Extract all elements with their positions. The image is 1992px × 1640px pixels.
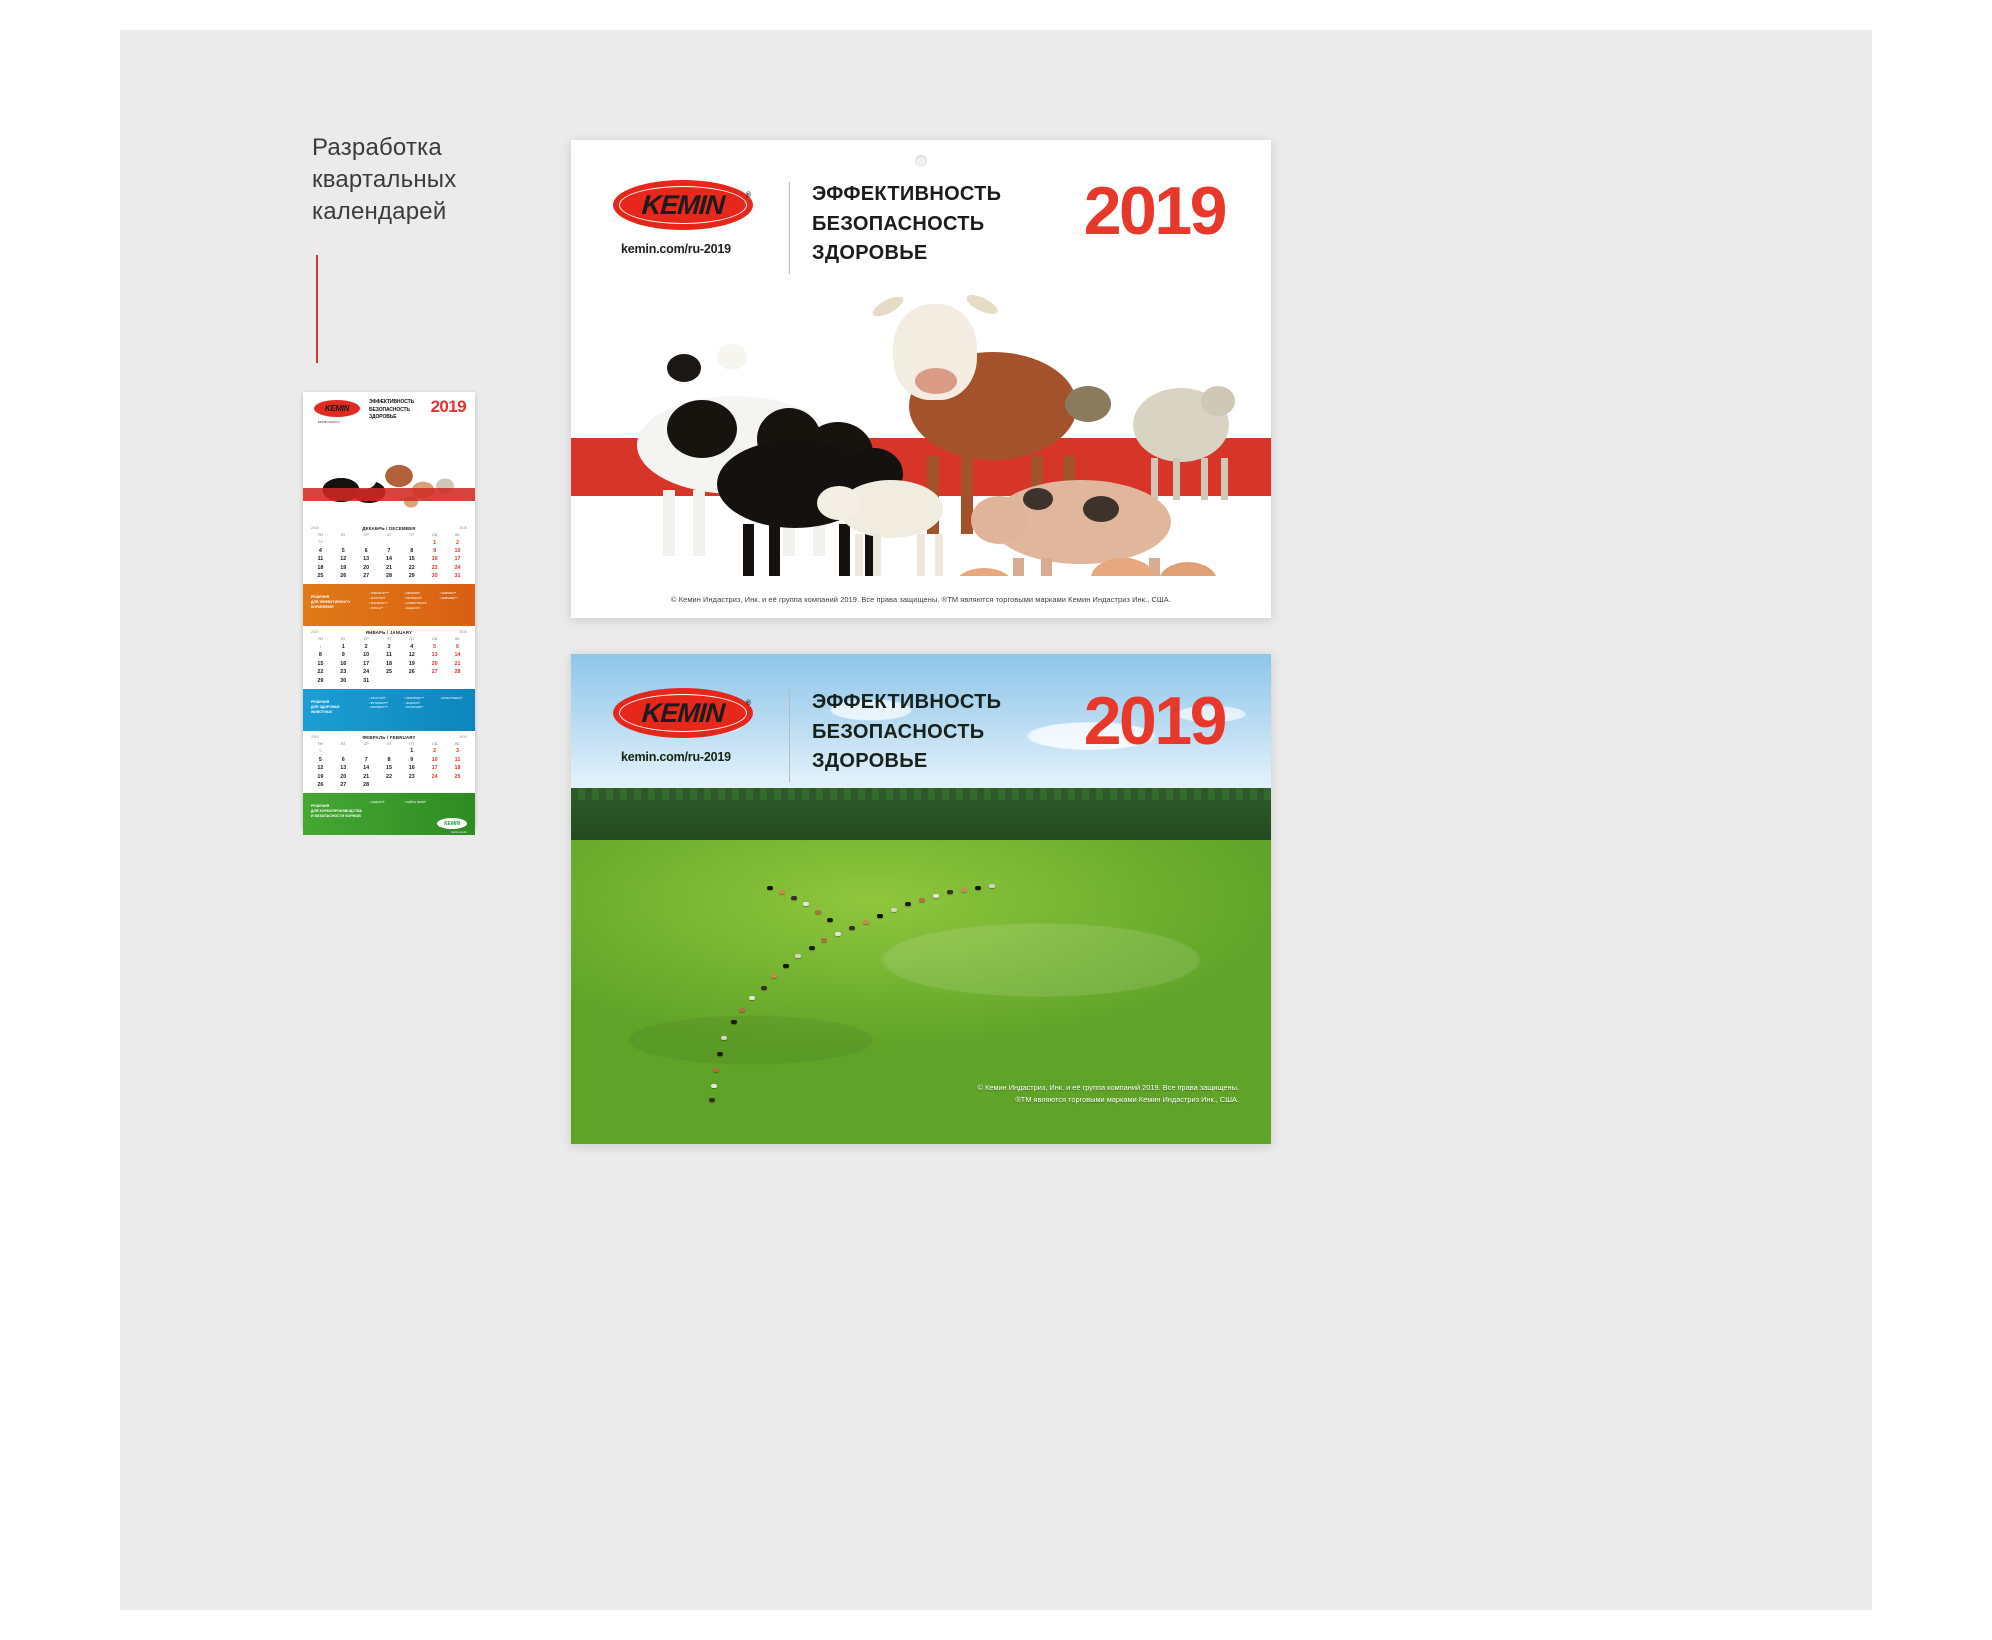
calendar-day-cell[interactable]: 13: [332, 764, 355, 772]
portfolio-slide: Разработка квартальных календарей KEMIN …: [0, 0, 1992, 1640]
quarter-block-december: 2018 2019 ДЕКАБРЬ / DECEMBER ПНВТСРЧТПТС…: [303, 522, 475, 626]
cover-year-animals: 2019: [1084, 172, 1225, 250]
q1-product-band: РЕШЕНИЯ ДЛЯ ЭФФЕКТИВНОГО КОРМЛЕНИЯ • ЛИЗ…: [303, 584, 475, 626]
slogan-line-1: ЭФФЕКТИВНОСТЬ: [812, 688, 1001, 718]
herd-animal: [989, 884, 995, 888]
quarter-block-february: 2019 2019 ФЕВРАЛЬ / FEBRUARY ПНВТСРЧТПТС…: [303, 731, 475, 835]
calendar-day-cell[interactable]: 14: [355, 764, 378, 772]
q1-calendar-grid: ПНВТСРЧТПТСБВС48124567891011121314151617…: [309, 533, 469, 580]
product-column: • ЛИЗОФОРТ™• КЛОСТАТ®• ФОРМИКС™• ЛИСОН™: [369, 591, 398, 610]
registered-mark-icon: ®: [746, 192, 751, 199]
calendar-day-cell[interactable]: 4: [309, 547, 332, 555]
calendar-day-cell[interactable]: 2: [446, 539, 469, 547]
q3-year-left: 2019: [311, 735, 319, 739]
herd-animal: [739, 1008, 745, 1012]
brand-url[interactable]: kemin.com/ru-2019: [621, 242, 765, 256]
calendar-week-row: 567891011: [309, 756, 469, 764]
herd-animal: [709, 1098, 715, 1102]
calendar-day-cell[interactable]: [378, 539, 401, 547]
q3-month-label: ФЕВРАЛЬ / FEBRUARY: [309, 735, 469, 740]
calendar-day-cell[interactable]: 9: [332, 651, 355, 659]
calendar-day-cell[interactable]: 6: [332, 756, 355, 764]
calendar-day-cell[interactable]: 25: [378, 668, 401, 676]
calendar-day-cell[interactable]: 11: [309, 555, 332, 563]
calendar-day-cell[interactable]: 28: [446, 668, 469, 676]
product-name: • ЭНДОКС®: [404, 606, 433, 611]
calendar-day-cell[interactable]: [355, 539, 378, 547]
calendar-day-cell[interactable]: 17: [446, 555, 469, 563]
q3-band-title: РЕШЕНИЯ ДЛЯ КОРМОПРОИЗВОДСТВА И БЕЗОПАСН…: [311, 804, 362, 819]
calendar-day-cell[interactable]: 6: [355, 547, 378, 555]
calendar-day-cell[interactable]: [400, 781, 423, 789]
calendar-day-cell[interactable]: 20: [332, 773, 355, 781]
brown-cow-muzzle: [915, 368, 957, 394]
calendar-day-cell[interactable]: [446, 781, 469, 789]
calendar-day-cell[interactable]: 1: [400, 747, 423, 755]
slogan-line-2: БЕЗОПАСНОСТЬ: [812, 718, 1001, 748]
calendar-day-cell[interactable]: 15: [309, 660, 332, 668]
herd-animal: [731, 1020, 737, 1024]
herd-animal: [835, 932, 841, 936]
calendar-week-row: 4812: [309, 539, 469, 547]
calendar-day-cell[interactable]: 2: [423, 747, 446, 755]
calendar-day-cell[interactable]: 31: [446, 572, 469, 580]
herd-animal: [771, 974, 777, 978]
calendar-week-row: 891011121314: [309, 651, 469, 659]
product-column: • КЕММИН™• КЕММИКС™: [440, 591, 469, 610]
cover-year-field: 2019: [1084, 682, 1225, 760]
brand-slogan: ЭФФЕКТИВНОСТЬ БЕЗОПАСНОСТЬ ЗДОРОВЬЕ: [812, 688, 1001, 777]
calendar-day-cell[interactable]: 29: [400, 572, 423, 580]
calendar-day-cell[interactable]: 16: [332, 660, 355, 668]
calendar-day-cell[interactable]: 23: [400, 773, 423, 781]
brown-cow-horn-left: [870, 293, 906, 320]
calendar-day-cell[interactable]: 26: [400, 668, 423, 676]
herd-animal: [919, 898, 925, 902]
quarterly-calendar-thumbnail[interactable]: KEMIN kemin.com/ru ЭФФЕКТИВНОСТЬ БЕЗОПАС…: [303, 392, 475, 827]
calendar-day-cell[interactable]: 26: [309, 781, 332, 789]
kemin-logo-icon: KEMIN ®: [613, 688, 753, 738]
calendar-day-cell[interactable]: [332, 539, 355, 547]
calendar-day-cell[interactable]: 19: [309, 773, 332, 781]
quarter-block-january: 2019 2019 ЯНВАРЬ / JANUARY ПНВТСРЧТПТСБВ…: [303, 626, 475, 730]
calendar-day-cell[interactable]: 8: [400, 547, 423, 555]
herd-animal: [815, 910, 821, 914]
calendar-day-cell[interactable]: 16: [400, 764, 423, 772]
calendar-week-row: 262728: [309, 781, 469, 789]
calendar-day-cell[interactable]: 48: [309, 539, 332, 547]
hanging-hole-icon: [915, 155, 927, 167]
q2-year-left: 2019: [311, 630, 319, 634]
footer-url: kemin.com/ru: [451, 831, 467, 834]
calendar-day-cell[interactable]: 18: [309, 564, 332, 572]
calendar-day-cell[interactable]: 12: [400, 651, 423, 659]
calendar-day-cell[interactable]: 11: [446, 756, 469, 764]
herd-animal: [779, 890, 785, 894]
calendar-day-cell[interactable]: 4: [400, 643, 423, 651]
herd-animal: [975, 886, 981, 890]
copyright-field-line-1: © Кемин Индастриз, Инк. и её группа комп…: [977, 1082, 1239, 1094]
calendar-day-cell[interactable]: 21: [378, 564, 401, 572]
product-column: • ЛИЗОФОРТ™• ЭНДОКС®• ОКСИГАРД™: [404, 696, 433, 710]
calendar-day-cell[interactable]: 1: [332, 643, 355, 651]
calendar-day-cell[interactable]: 24: [446, 564, 469, 572]
calendar-week-row: 1123456: [309, 643, 469, 651]
cover-header-animals: KEMIN ® kemin.com/ru-2019 ЭФФЕКТИВНОСТЬ …: [613, 180, 1001, 274]
calendar-day-cell[interactable]: 14: [446, 651, 469, 659]
calendar-day-cell[interactable]: 27: [332, 781, 355, 789]
q3-product-list: • ЭНДОКС®• МАЙКО КЕРБ®: [369, 800, 469, 805]
herd-animal: [749, 996, 755, 1000]
herd-animal: [877, 914, 883, 918]
page-title: Разработка квартальных календарей: [312, 132, 542, 228]
calendar-day-cell[interactable]: [332, 747, 355, 755]
kemin-logo-icon: KEMIN: [314, 400, 360, 417]
q2-month-label: ЯНВАРЬ / JANUARY: [309, 630, 469, 635]
calendar-day-cell[interactable]: 24: [355, 668, 378, 676]
q2-calendar-grid: ПНВТСРЧТПТСБВС11234568910111213141516171…: [309, 637, 469, 684]
calendar-day-cell[interactable]: 15: [400, 555, 423, 563]
herd-animal: [791, 896, 797, 900]
footer-kemin-logo-icon: KEMIN: [437, 818, 467, 829]
herd-animal: [783, 964, 789, 968]
calendar-day-cell[interactable]: 11: [378, 651, 401, 659]
calendar-week-row: 18192021222324: [309, 564, 469, 572]
calendar-day-cell[interactable]: 20: [423, 660, 446, 668]
herd-animal: [821, 938, 827, 942]
calendar-day-cell[interactable]: 16: [423, 555, 446, 563]
animal-group-photo: [571, 290, 1271, 576]
calendar-week-row: 45678910: [309, 547, 469, 555]
product-name: • ОКСИГАРД™: [404, 705, 433, 710]
brown-cow-horn-right: [964, 291, 1000, 318]
calendar-day-cell[interactable]: [378, 747, 401, 755]
sheep-head: [1201, 386, 1235, 416]
pig-head: [971, 496, 1027, 544]
calendar-day-cell[interactable]: 28: [355, 781, 378, 789]
registered-mark-icon: ®: [746, 700, 751, 707]
calendar-day-cell[interactable]: 12: [309, 764, 332, 772]
q2-year-right: 2019: [459, 630, 467, 634]
page-title-line-1: Разработка: [312, 132, 542, 164]
brand-url[interactable]: kemin.com/ru-2019: [621, 750, 765, 764]
herd-animal: [891, 908, 897, 912]
forest-treeline: [571, 794, 1271, 842]
thumbnail-logo-text: KEMIN: [325, 404, 349, 413]
calendar-day-cell[interactable]: 7: [355, 756, 378, 764]
calendar-day-cell[interactable]: 8: [378, 756, 401, 764]
title-accent-rule: [316, 255, 318, 363]
calendar-day-cell[interactable]: 20: [355, 564, 378, 572]
turkey-icon: [1065, 386, 1111, 422]
q3-year-right: 2019: [459, 735, 467, 739]
slogan-line-3: ЗДОРОВЬЕ: [812, 239, 1001, 269]
calendar-day-cell[interactable]: 3: [378, 643, 401, 651]
calendar-day-cell[interactable]: [423, 781, 446, 789]
calendar-day-cell[interactable]: [400, 539, 423, 547]
calendar-day-cell[interactable]: 12: [332, 555, 355, 563]
calendar-day-cell[interactable]: 10: [355, 651, 378, 659]
herd-animal: [767, 886, 773, 890]
calendar-day-cell[interactable]: [446, 677, 469, 685]
page-title-line-3: календарей: [312, 196, 542, 228]
calendar-day-cell[interactable]: 23: [423, 564, 446, 572]
herd-animal: [849, 926, 855, 930]
calendar-day-cell[interactable]: [378, 677, 401, 685]
calendar-day-cell[interactable]: 18: [378, 660, 401, 668]
q1-year-left: 2018: [311, 526, 319, 530]
calendar-day-cell[interactable]: 25: [446, 773, 469, 781]
product-name: • ЛИСОН™: [369, 606, 398, 611]
thumbnail-slogan-line-1: ЭФФЕКТИВНОСТЬ: [369, 399, 414, 407]
goat-head: [817, 486, 861, 520]
q1-band-title-line-3: КОРМЛЕНИЯ: [311, 605, 350, 610]
thumbnail-slogan: ЭФФЕКТИВНОСТЬ БЕЗОПАСНОСТЬ ЗДОРОВЬЕ: [369, 399, 414, 422]
calendar-day-cell[interactable]: 30: [332, 677, 355, 685]
calendar-day-cell[interactable]: 10: [446, 547, 469, 555]
piglet-3: [1159, 562, 1217, 576]
calendar-day-cell[interactable]: 6: [446, 643, 469, 651]
product-column: • КЛОСТАТ®• БУТИПЕРЛ™• ФОРМИКС™: [369, 696, 398, 710]
calendar-day-cell[interactable]: 30: [423, 572, 446, 580]
herd-animal: [961, 888, 967, 892]
hen-icon: [717, 344, 747, 370]
calendar-week-row: 12131415161718: [309, 764, 469, 772]
cover-header-field: KEMIN ® kemin.com/ru-2019 ЭФФЕКТИВНОСТЬ …: [613, 688, 1001, 782]
calendar-day-cell[interactable]: 28: [378, 572, 401, 580]
calendar-day-cell[interactable]: 13: [423, 651, 446, 659]
calendar-day-cell[interactable]: 19: [400, 660, 423, 668]
calendar-day-cell[interactable]: 3: [446, 747, 469, 755]
calendar-day-cell[interactable]: 31: [355, 677, 378, 685]
calendar-day-cell[interactable]: 7: [378, 547, 401, 555]
herd-animal: [711, 1084, 717, 1088]
rooster-icon: [667, 354, 701, 382]
slogan-line-1: ЭФФЕКТИВНОСТЬ: [812, 180, 1001, 210]
herd-animal: [905, 902, 911, 906]
product-name: • КЕММИКС™: [440, 596, 469, 601]
calendar-day-cell[interactable]: 13: [355, 555, 378, 563]
calendar-day-cell[interactable]: 17: [423, 764, 446, 772]
calendar-day-cell[interactable]: 9: [400, 756, 423, 764]
calendar-day-cell[interactable]: 18: [446, 764, 469, 772]
page-title-line-2: квартальных: [312, 164, 542, 196]
q3-product-band: РЕШЕНИЯ ДЛЯ КОРМОПРОИЗВОДСТВА И БЕЗОПАСН…: [303, 793, 475, 835]
q1-year-right: 2019: [459, 526, 467, 530]
q1-month-label: ДЕКАБРЬ / DECEMBER: [309, 526, 469, 531]
kemin-logo-icon: KEMIN ®: [613, 180, 753, 230]
thumbnail-red-band: [303, 488, 475, 501]
copyright-field: © Кемин Индастриз, Инк. и её группа комп…: [977, 1082, 1239, 1106]
calendar-day-cell[interactable]: 5: [332, 547, 355, 555]
calendar-day-cell[interactable]: 25: [309, 572, 332, 580]
q1-band-title: РЕШЕНИЯ ДЛЯ ЭФФЕКТИВНОГО КОРМЛЕНИЯ: [311, 595, 350, 610]
calendar-day-cell[interactable]: 8: [309, 651, 332, 659]
calendar-day-cell[interactable]: 27: [355, 572, 378, 580]
q3-calendar-grid: ПНВТСРЧТПТСБВС51235678910111213141516171…: [309, 742, 469, 789]
herd-animal: [863, 920, 869, 924]
herd-animal: [947, 890, 953, 894]
calendar-day-cell[interactable]: 5: [309, 747, 332, 755]
herd-animal: [795, 954, 801, 958]
logo-column: KEMIN ® kemin.com/ru-2019: [613, 180, 765, 256]
herd-animal: [721, 1036, 727, 1040]
product-name: • ЭНДОКС®: [369, 800, 398, 805]
herd-animal: [713, 1068, 719, 1072]
brand-slogan: ЭФФЕКТИВНОСТЬ БЕЗОПАСНОСТЬ ЗДОРОВЬЕ: [812, 180, 1001, 269]
calendar-day-cell[interactable]: 10: [423, 756, 446, 764]
calendar-day-cell[interactable]: 5: [423, 643, 446, 651]
calendar-day-cell[interactable]: [400, 677, 423, 685]
product-column: • МАЙКО КЕРБ®: [404, 800, 433, 805]
calendar-day-cell[interactable]: [355, 747, 378, 755]
calendar-day-cell[interactable]: 21: [355, 773, 378, 781]
q3-band-title-line-3: И БЕЗОПАСНОСТИ КОРМОВ: [311, 814, 362, 819]
calendar-week-row: 293031: [309, 677, 469, 685]
calendar-day-cell[interactable]: 5: [309, 756, 332, 764]
thumbnail-animal-photo: [303, 428, 475, 522]
product-name: • АЛЛЕРПЛЕКС®: [440, 696, 469, 701]
product-name: • ФОРМИКС™: [369, 705, 398, 710]
copyright-animals: © Кемин Индастриз, Инк. и её группа комп…: [571, 595, 1271, 604]
calendar-week-row: 22232425262728: [309, 668, 469, 676]
footer-logo-text: KEMIN: [444, 821, 460, 827]
calendar-cover-field[interactable]: KEMIN ® kemin.com/ru-2019 ЭФФЕКТИВНОСТЬ …: [571, 654, 1271, 1144]
calendar-day-cell[interactable]: 17: [355, 660, 378, 668]
calendar-day-cell[interactable]: 26: [332, 572, 355, 580]
holstein-cow-spot-1: [667, 400, 737, 458]
kemin-logo-text: KEMIN: [641, 698, 725, 729]
copyright-field-line-2: ®ТМ являются торговыми марками Кемин Инд…: [977, 1094, 1239, 1106]
slogan-line-3: ЗДОРОВЬЕ: [812, 747, 1001, 777]
calendar-day-cell[interactable]: [378, 781, 401, 789]
product-column: [440, 800, 469, 805]
header-divider: [789, 690, 790, 782]
calendar-week-row: 5123: [309, 747, 469, 755]
product-name: • МАЙКО КЕРБ®: [404, 800, 433, 805]
calendar-day-cell[interactable]: 27: [423, 668, 446, 676]
thumbnail-url: kemin.com/ru: [318, 420, 340, 424]
calendar-week-row: 15161718192021: [309, 660, 469, 668]
calendar-day-cell[interactable]: 29: [309, 677, 332, 685]
product-column: • АЛЛЕРПЛЕКС®: [440, 696, 469, 710]
herd-animal: [933, 894, 939, 898]
calendar-day-cell[interactable]: [423, 677, 446, 685]
herd-animal: [809, 946, 815, 950]
calendar-week-row: 11121314151617: [309, 555, 469, 563]
calendar-day-cell[interactable]: 22: [309, 668, 332, 676]
calendar-cover-animals[interactable]: KEMIN ® kemin.com/ru-2019 ЭФФЕКТИВНОСТЬ …: [571, 140, 1271, 618]
calendar-day-cell[interactable]: 1: [423, 539, 446, 547]
calendar-day-cell[interactable]: 14: [378, 555, 401, 563]
herd-animal: [761, 986, 767, 990]
calendar-day-cell[interactable]: 24: [423, 773, 446, 781]
thumbnail-year: 2019: [431, 397, 466, 417]
thumbnail-header: KEMIN kemin.com/ru ЭФФЕКТИВНОСТЬ БЕЗОПАС…: [303, 392, 475, 522]
calendar-day-cell[interactable]: 15: [378, 764, 401, 772]
calendar-day-cell[interactable]: 1: [309, 643, 332, 651]
calendar-day-cell[interactable]: 9: [423, 547, 446, 555]
thumbnail-slogan-line-3: ЗДОРОВЬЕ: [369, 414, 414, 422]
thumbnail-slogan-line-2: БЕЗОПАСНОСТЬ: [369, 407, 414, 415]
calendar-day-cell[interactable]: 2: [355, 643, 378, 651]
herd-animal: [827, 918, 833, 922]
calendar-week-row: 25262728293031: [309, 572, 469, 580]
product-column: • ЭНДОКС®: [369, 800, 398, 805]
q1-product-list: • ЛИЗОФОРТ™• КЛОСТАТ®• ФОРМИКС™• ЛИСОН™•…: [369, 591, 469, 610]
header-divider: [789, 182, 790, 274]
calendar-day-cell[interactable]: 19: [332, 564, 355, 572]
calendar-day-cell[interactable]: 22: [400, 564, 423, 572]
q2-product-band: РЕШЕНИЯ ДЛЯ ЗДОРОВЬЯ ЖИВОТНЫХ • КЛОСТАТ®…: [303, 689, 475, 731]
product-column: • КЕМЗИМ®• МОЛЛЕКС®• АЛЛЕРПЛЕКС®• ЭНДОКС…: [404, 591, 433, 610]
calendar-day-cell[interactable]: 21: [446, 660, 469, 668]
kemin-logo-text: KEMIN: [641, 190, 725, 221]
q2-band-title: РЕШЕНИЯ ДЛЯ ЗДОРОВЬЯ ЖИВОТНЫХ: [311, 700, 340, 715]
piglet-1: [953, 568, 1015, 576]
calendar-day-cell[interactable]: 22: [378, 773, 401, 781]
logo-column: KEMIN ® kemin.com/ru-2019: [613, 688, 765, 764]
herd-animal: [803, 902, 809, 906]
calendar-day-cell[interactable]: 23: [332, 668, 355, 676]
pig-spot-1: [1023, 488, 1053, 510]
calendar-week-row: 19202122232425: [309, 773, 469, 781]
q2-band-title-line-3: ЖИВОТНЫХ: [311, 710, 340, 715]
herd-animal: [717, 1052, 723, 1056]
slogan-line-2: БЕЗОПАСНОСТЬ: [812, 210, 1001, 240]
q2-product-list: • КЛОСТАТ®• БУТИПЕРЛ™• ФОРМИКС™• ЛИЗОФОР…: [369, 696, 469, 710]
pig-spot-2: [1083, 496, 1119, 522]
